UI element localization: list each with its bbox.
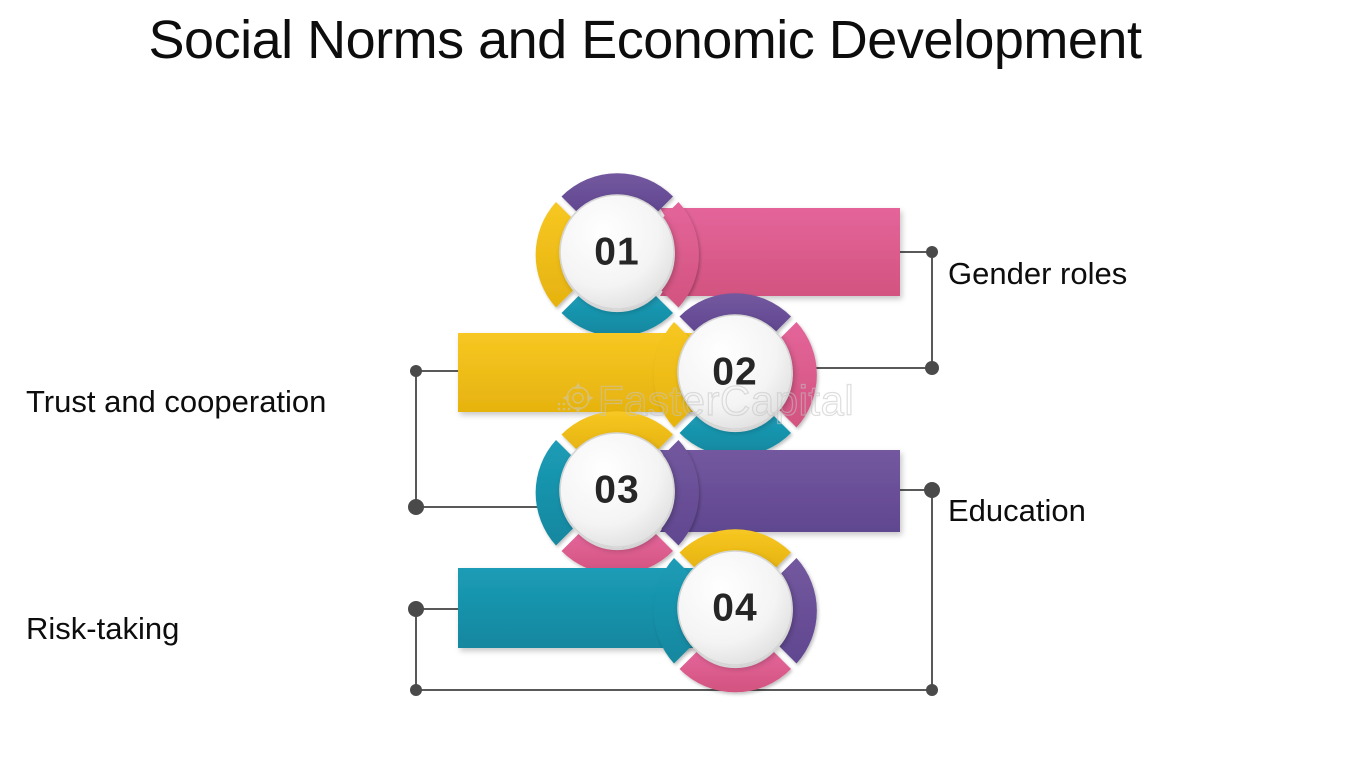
label-risk-taking: Risk-taking xyxy=(26,613,179,644)
label-education: Education xyxy=(948,495,1086,526)
watermark: FasterCapital xyxy=(558,377,855,424)
label-trust-and-cooperation: Trust and cooperation xyxy=(26,386,326,417)
step-04-number: 04 xyxy=(712,587,757,630)
slide-canvas: Social Norms and Economic Development xyxy=(0,0,1350,759)
step-01-number: 01 xyxy=(594,231,639,274)
label-gender-roles: Gender roles xyxy=(948,258,1127,289)
infographic-diagram: 01 02 xyxy=(0,0,1350,759)
watermark-text: FasterCapital xyxy=(598,377,854,424)
step-03-number: 03 xyxy=(594,469,639,512)
